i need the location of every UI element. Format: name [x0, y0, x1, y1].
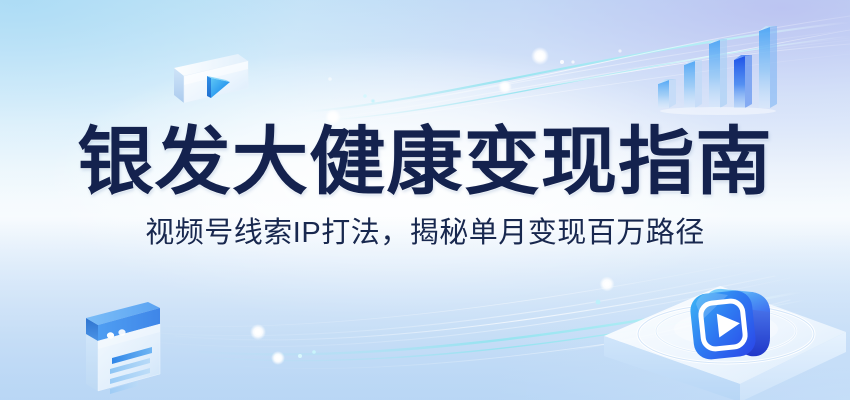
banner-text-block: 银发大健康变现指南 视频号线索IP打法，揭秘单月变现百万路径: [0, 122, 850, 250]
promo-banner: 银发大健康变现指南 视频号线索IP打法，揭秘单月变现百万路径: [0, 0, 850, 400]
page-subtitle: 视频号线索IP打法，揭秘单月变现百万路径: [0, 216, 850, 250]
play-cube-icon: [678, 276, 790, 380]
page-title: 银发大健康变现指南: [0, 122, 850, 202]
document-window-icon: [66, 288, 186, 400]
play-card-icon: [168, 42, 252, 120]
bar-chart-icon: [652, 18, 792, 114]
